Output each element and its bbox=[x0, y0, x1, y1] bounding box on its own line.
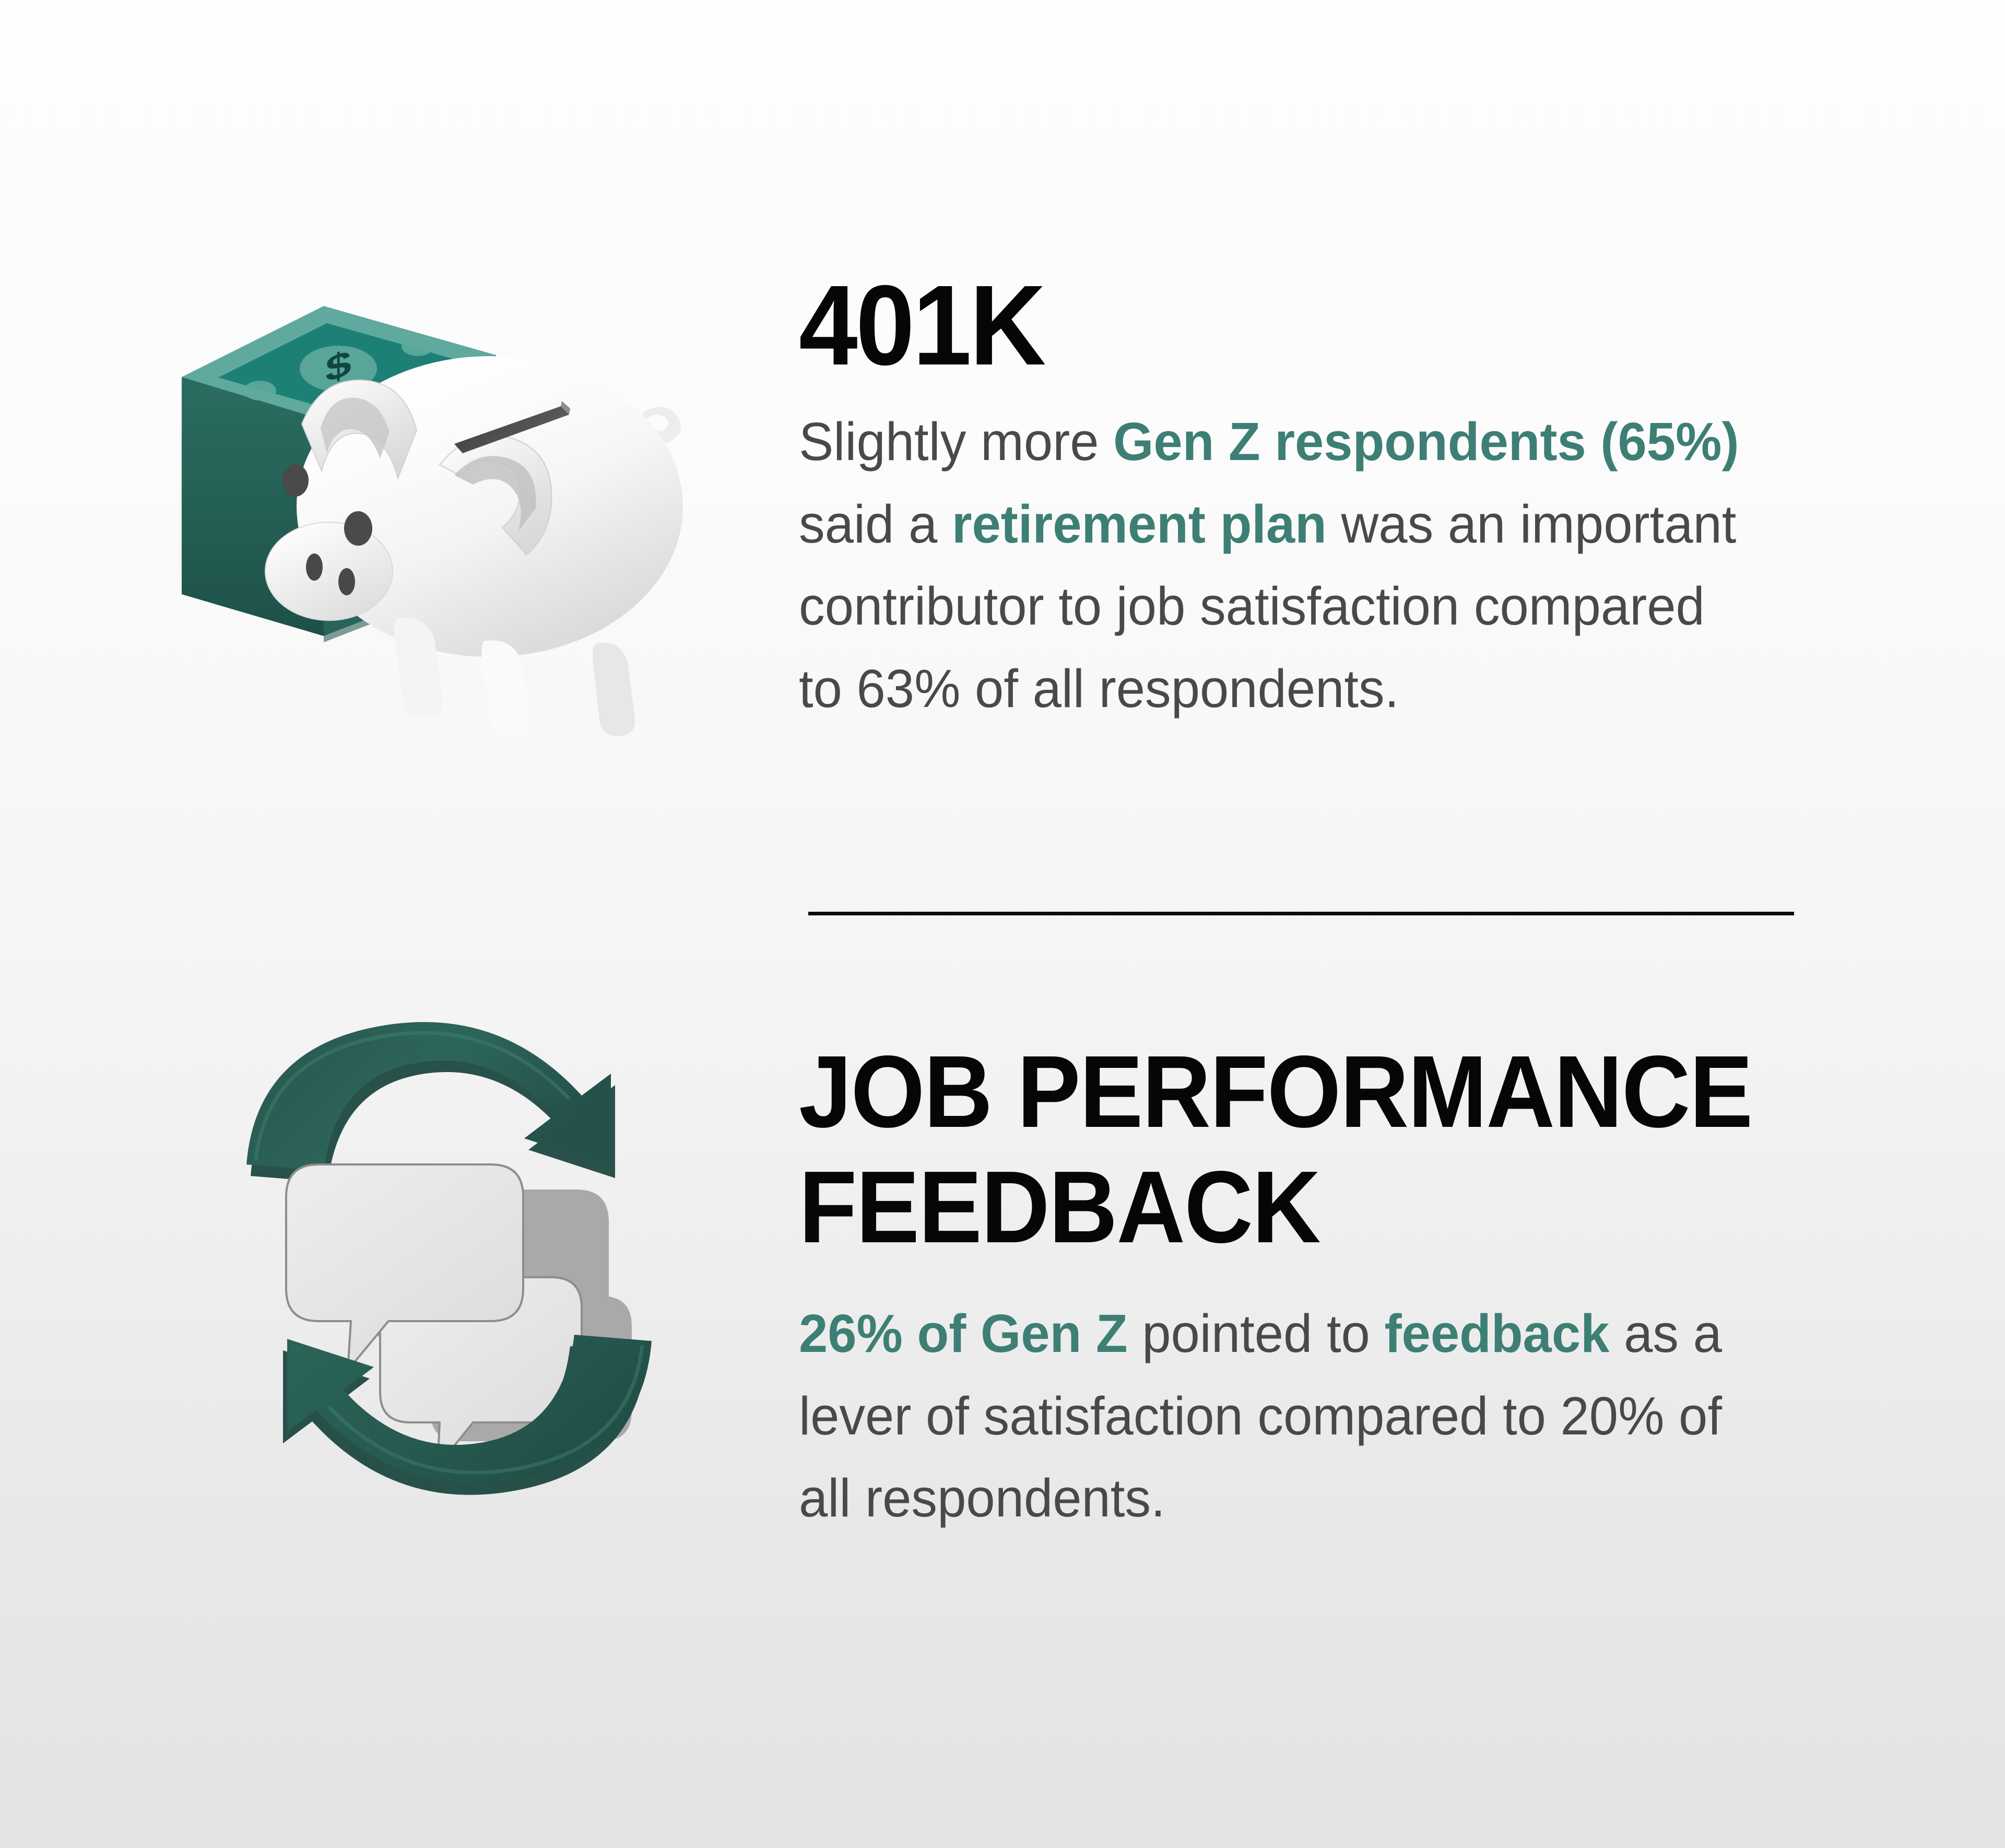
nostril-right bbox=[338, 568, 355, 595]
cycle-arrow-top-icon bbox=[246, 1022, 615, 1182]
piggy-bank-icon bbox=[265, 356, 683, 738]
highlight-retirement-plan: retirement plan bbox=[952, 494, 1327, 554]
heading-job-performance-feedback: JOB PERFORMANCE FEEDBACK bbox=[799, 1034, 1765, 1265]
text-column-feedback: JOB PERFORMANCE FEEDBACK 26% of Gen Z po… bbox=[799, 982, 1838, 1539]
body-text-run: pointed to bbox=[1128, 1303, 1385, 1363]
eye-lower bbox=[344, 511, 372, 546]
illustration-column-feedback bbox=[0, 982, 799, 1650]
section-divider bbox=[808, 912, 1794, 915]
section-job-performance-feedback: JOB PERFORMANCE FEEDBACK 26% of Gen Z po… bbox=[0, 982, 2005, 1650]
feedback-cycle-speech-bubbles-illustration bbox=[198, 992, 700, 1514]
body-text-run: Slightly more bbox=[799, 411, 1113, 472]
text-column-401k: 401K Slightly more Gen Z respondents (65… bbox=[799, 225, 1838, 729]
illustration-column-401k: $ bbox=[0, 225, 799, 877]
nostril-left bbox=[306, 554, 323, 581]
highlight-feedback: feedback bbox=[1384, 1303, 1609, 1363]
piggy-bank-with-money-stack-illustration: $ bbox=[172, 256, 710, 794]
body-copy-401k: Slightly more Gen Z respondents (65%) sa… bbox=[799, 401, 1746, 729]
highlight-26-percent-gen-z: 26% of Gen Z bbox=[799, 1303, 1128, 1363]
heading-401k: 401K bbox=[799, 269, 1765, 383]
infographic-page: $ bbox=[0, 0, 2005, 1848]
section-401k: $ bbox=[0, 225, 2005, 877]
eye-upper bbox=[282, 464, 309, 497]
highlight-gen-z-respondents: Gen Z respondents (65%) bbox=[1113, 411, 1739, 472]
body-copy-feedback: 26% of Gen Z pointed to feedback as a le… bbox=[799, 1292, 1746, 1539]
body-text-run: said a bbox=[799, 494, 952, 554]
